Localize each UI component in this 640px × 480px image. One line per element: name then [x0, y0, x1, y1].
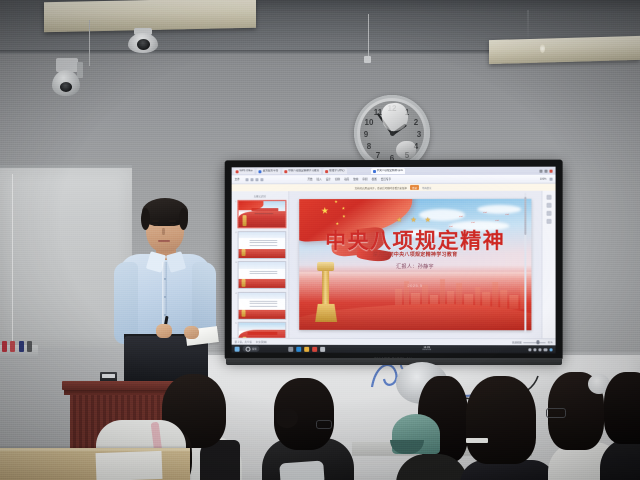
- search-icon: [246, 346, 251, 351]
- language-label[interactable]: 中文(简体): [256, 340, 267, 344]
- browser-tab-active[interactable]: 中央八项规定精神.pptx: [371, 168, 405, 174]
- minimize-icon[interactable]: [539, 169, 542, 172]
- quick-access-toolbar[interactable]: [246, 178, 264, 181]
- slide-thumbnail[interactable]: [238, 291, 286, 319]
- ribbon-item-view[interactable]: 视图: [372, 177, 377, 181]
- system-tray[interactable]: [528, 348, 552, 351]
- ime-icon[interactable]: [550, 348, 553, 351]
- ribbon-right-group[interactable]: 100%: [540, 177, 553, 180]
- windows-taskbar[interactable]: 搜索 14:03 2025/5/16: [232, 345, 556, 354]
- marker-tray: [0, 345, 38, 359]
- thumbnail-number: 2: [234, 231, 237, 235]
- presenter: [112, 196, 218, 381]
- tab-label: WPS Office: [240, 169, 253, 173]
- print-icon[interactable]: [261, 178, 264, 181]
- notification-text: 文档已启用云同步，登录后可随时查看历史版本: [355, 185, 407, 189]
- vertical-scrollbar[interactable]: [524, 193, 527, 333]
- light-hanger-rod: [527, 10, 529, 40]
- student-center-left: [262, 378, 354, 480]
- clock-numeral: 10: [364, 118, 374, 128]
- presenter-hair: [179, 208, 188, 230]
- zoom-slider[interactable]: [524, 342, 546, 343]
- red-marker: [10, 341, 15, 352]
- classroom-photo: 12 1 2 3 4 5 6 7 8 9 10 11: [0, 0, 640, 480]
- task-view-icon[interactable]: [289, 346, 294, 351]
- dome-camera: [50, 58, 84, 100]
- thumbnail-number: 3: [234, 261, 237, 265]
- display-screen[interactable]: WPS Office 政务服务平台 中央八项规定精神学习教育 在线学习中心: [232, 167, 556, 346]
- favicon-icon: [284, 170, 287, 173]
- slide-thumbnail[interactable]: [238, 200, 286, 228]
- student-hair: [604, 372, 640, 444]
- design-pane-icon[interactable]: [547, 211, 552, 216]
- paper-sheets: [96, 451, 163, 480]
- maximize-icon[interactable]: [544, 169, 547, 172]
- conduit-wire: [368, 14, 369, 58]
- dismiss-link[interactable]: 不再提示: [422, 185, 432, 189]
- presentation-app[interactable]: WPS Office 政务服务平台 中央八项规定精神学习教育 在线学习中心: [232, 167, 556, 346]
- chevron-up-icon[interactable]: [528, 348, 531, 351]
- thumb-art: [239, 201, 285, 227]
- ribbon-item-animation[interactable]: 动画: [344, 177, 349, 181]
- tab-label: 在线学习中心: [329, 169, 345, 173]
- edge-icon[interactable]: [297, 346, 302, 351]
- thumbnail-item[interactable]: 1: [234, 200, 287, 228]
- side-tool-panel[interactable]: [541, 191, 555, 339]
- browser-tab[interactable]: 中央八项规定精神学习教育: [282, 168, 321, 174]
- taskbar-date: 2025/5/16: [422, 349, 431, 351]
- view-mode-label[interactable]: 普通视图: [512, 340, 522, 344]
- scrollbar-thumb[interactable]: [524, 197, 527, 235]
- whiteboard-seam: [12, 174, 13, 342]
- thumbnail-number: 1: [234, 200, 237, 204]
- save-icon[interactable]: [246, 178, 249, 181]
- volume-icon[interactable]: [538, 348, 541, 351]
- zoom-level-label[interactable]: 61%: [548, 341, 553, 344]
- favicon-icon: [236, 170, 239, 173]
- tab-label: 中央八项规定精神.pptx: [377, 169, 403, 173]
- student-hair: [466, 376, 536, 464]
- interactive-flat-panel[interactable]: WPS Office 政务服务平台 中央八项规定精神学习教育 在线学习中心: [225, 160, 563, 361]
- black-marker: [27, 341, 32, 352]
- thumbnail-panel-header: 大纲 幻灯片: [234, 194, 287, 198]
- taskbar-search[interactable]: 搜索: [243, 346, 260, 352]
- thumbnail-number: 5: [234, 322, 237, 326]
- editor-workspace[interactable]: 大纲 幻灯片 1 2: [232, 191, 556, 339]
- junction-box: [364, 56, 371, 63]
- ribbon-item-insert[interactable]: 插入: [317, 177, 322, 181]
- slide-thumbnail-panel[interactable]: 大纲 幻灯片 1 2: [232, 191, 290, 338]
- light-bulb: [540, 44, 545, 53]
- slide-thumbnail[interactable]: [238, 261, 286, 289]
- red-marker: [2, 341, 7, 352]
- redo-icon[interactable]: [256, 178, 259, 181]
- current-slide[interactable]: ★ ★ ★ ★ ★ 〜 〜 〜 〜 〜: [299, 199, 531, 330]
- clock-face: 12 1 2 3 4 5 6 7 8 9 10 11: [360, 101, 424, 165]
- slide-stage[interactable]: ★ ★ ★ ★ ★ 〜 〜 〜 〜 〜: [289, 191, 541, 339]
- clock-numeral: 2: [411, 118, 421, 128]
- thumbnail-item[interactable]: 2: [234, 231, 287, 259]
- slide-subtitle: 深入贯彻中央八项规定精神学习教育: [299, 251, 531, 258]
- wps-icon[interactable]: [312, 346, 317, 351]
- ribbon-item-slideshow[interactable]: 放映: [353, 177, 358, 181]
- control-panel-screen: [102, 374, 115, 378]
- presenter-sleeve-left: [114, 262, 138, 344]
- favicon-icon: [373, 170, 376, 173]
- thumbnail-number: 4: [234, 291, 237, 295]
- slide-thumbnail[interactable]: [238, 231, 286, 259]
- camera-housing: [77, 62, 83, 78]
- tab-label: 政务服务平台: [263, 169, 278, 173]
- ceiling-beam: [232, 0, 640, 14]
- student-torso: [600, 438, 640, 480]
- network-icon[interactable]: [533, 348, 536, 351]
- ribbon-item-design[interactable]: 设计: [326, 177, 331, 181]
- thumbnail-item[interactable]: 4: [234, 291, 287, 319]
- slide-stars: ★ ★ ★: [299, 217, 531, 224]
- media-icon[interactable]: [320, 346, 325, 351]
- close-icon[interactable]: [550, 169, 553, 172]
- thumb-art: [239, 292, 285, 318]
- clock-numeral: 9: [361, 130, 371, 140]
- presenter-nose: [162, 228, 165, 235]
- student-hair-bun: [276, 408, 298, 428]
- slide-presenter: 汇报人：孙静宇: [299, 263, 531, 270]
- presenter-hair: [141, 208, 150, 230]
- favicon-icon: [325, 170, 328, 173]
- clock-glass-glare: [396, 141, 416, 159]
- ribbon-item-review[interactable]: 审阅: [362, 177, 367, 181]
- eyeglasses: [316, 420, 332, 429]
- clock-glass-glare: [380, 101, 410, 132]
- camera-lens: [60, 82, 72, 92]
- presenter-eyebrow: [169, 220, 176, 222]
- thumbnail-item[interactable]: 5: [234, 322, 287, 338]
- start-icon[interactable]: [235, 346, 240, 351]
- thumb-art: [239, 232, 285, 258]
- blue-marker: [19, 341, 24, 352]
- browser-tab[interactable]: 在线学习中心: [323, 168, 346, 174]
- browser-tab[interactable]: 政务服务平台: [257, 168, 280, 174]
- thumb-art: [239, 262, 285, 288]
- conduit-wire: [89, 20, 90, 66]
- presenter-eyebrow: [152, 220, 159, 222]
- ribbon-item-member[interactable]: 会员专享: [381, 177, 391, 181]
- eyeglasses: [546, 408, 566, 418]
- login-button[interactable]: 登录: [410, 185, 419, 190]
- status-right-group[interactable]: 普通视图 61%: [512, 340, 553, 344]
- search-icon[interactable]: [550, 177, 553, 180]
- slide-date: 2025.5: [299, 283, 531, 288]
- clock-center-pin: [390, 131, 395, 136]
- taskbar-clock[interactable]: 14:03 2025/5/16: [422, 346, 431, 351]
- student-far-right: [604, 372, 640, 480]
- undo-icon[interactable]: [251, 178, 254, 181]
- student-center: [392, 362, 468, 480]
- window-controls[interactable]: [539, 169, 553, 172]
- browser-tab[interactable]: WPS Office: [234, 168, 255, 174]
- camera-lens: [137, 39, 150, 50]
- battery-icon[interactable]: [543, 348, 547, 351]
- paper-sheets: [466, 438, 488, 443]
- backpack: [279, 460, 325, 480]
- search-placeholder: 搜索: [252, 347, 257, 351]
- presenter-hand: [156, 324, 172, 338]
- thumb-art: [239, 323, 285, 338]
- slide-thumbnail[interactable]: [238, 322, 286, 338]
- presenter-hand: [184, 326, 199, 339]
- ceiling-light-fixture: [489, 36, 640, 64]
- ribbon-zoom-label[interactable]: 100%: [540, 177, 547, 180]
- ribbon-item-file[interactable]: 文件: [235, 177, 240, 181]
- ribbon-item-transition[interactable]: 切换: [335, 177, 340, 181]
- animation-pane-icon[interactable]: [547, 203, 552, 208]
- slide-count-label: 第 1 张，共 6 张: [235, 340, 252, 344]
- format-pane-icon[interactable]: [547, 195, 552, 200]
- zoom-slider-knob[interactable]: [537, 341, 540, 345]
- explorer-icon[interactable]: [304, 346, 309, 351]
- comments-pane-icon[interactable]: [547, 219, 552, 224]
- tab-label: 中央八项规定精神学习教育: [288, 169, 319, 173]
- thumbnail-item[interactable]: 3: [234, 261, 287, 289]
- dome-camera: [128, 28, 158, 54]
- favicon-icon: [259, 170, 262, 173]
- clock-numeral: 3: [414, 130, 424, 140]
- ribbon-item-home[interactable]: 开始: [307, 177, 312, 181]
- clock-numeral: 8: [364, 142, 374, 152]
